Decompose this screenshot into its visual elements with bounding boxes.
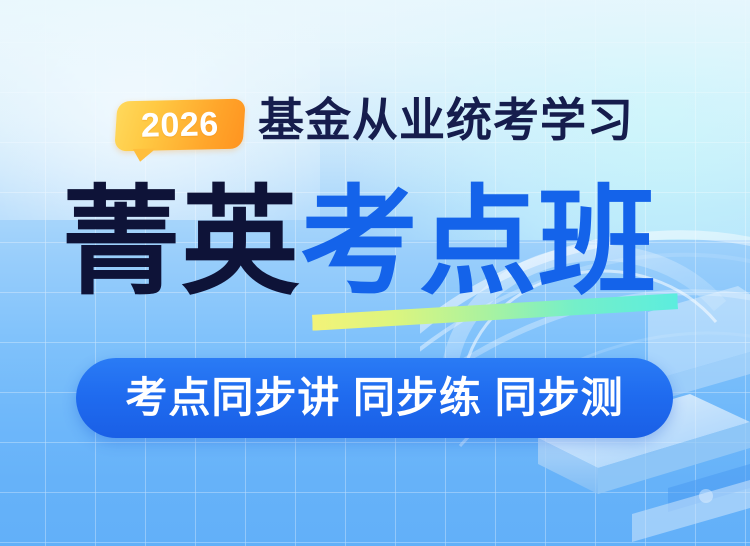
year-badge-label: 2026 <box>141 107 219 143</box>
main-title: 菁英考点班 <box>62 184 657 302</box>
year-badge: 2026 <box>116 100 244 150</box>
year-badge-tail <box>131 148 156 161</box>
headline-text: 基金从业统考学习 <box>258 96 634 144</box>
main-title-blue: 考点班 <box>300 177 657 309</box>
main-title-dark: 菁英 <box>62 177 300 309</box>
year-badge-bubble: 2026 <box>114 99 246 152</box>
cta-pill-button[interactable]: 考点同步讲 同步练 同步测 <box>76 358 673 438</box>
promo-banner: 2026 基金从业统考学习 菁英考点班 考点同步讲 同步练 同步测 <box>0 0 750 546</box>
cta-pill-label: 考点同步讲 同步练 同步测 <box>125 377 623 419</box>
